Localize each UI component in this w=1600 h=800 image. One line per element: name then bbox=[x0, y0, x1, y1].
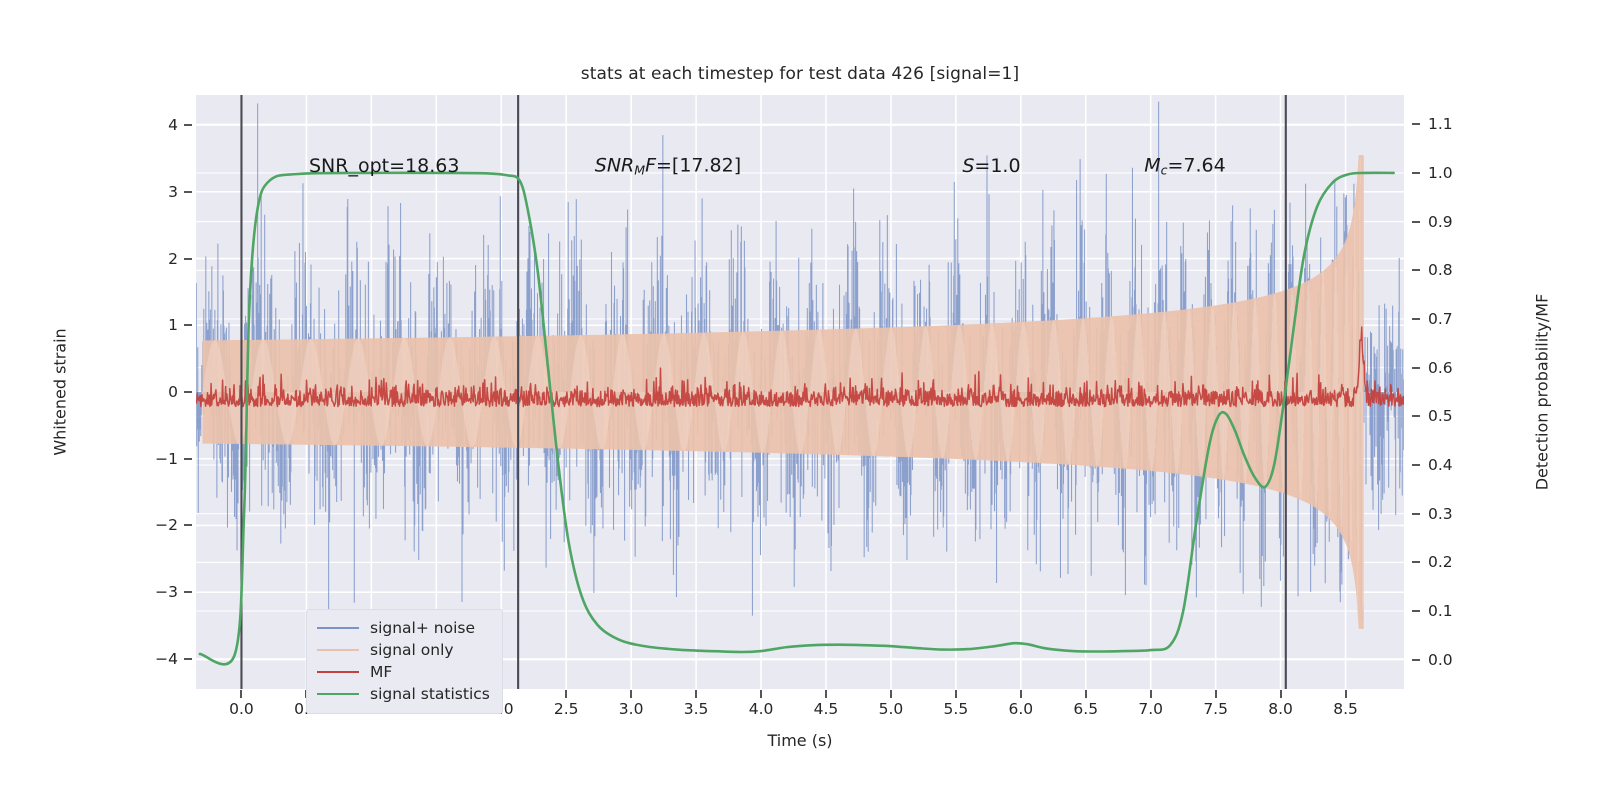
y-tick-right-0-9: 0.9 bbox=[1428, 213, 1474, 231]
legend-label: signal+ noise bbox=[370, 619, 475, 637]
annotation-snr-mf: SNRMF=[17.82] bbox=[595, 155, 741, 178]
tick-mark bbox=[565, 690, 567, 698]
tick-mark bbox=[695, 690, 697, 698]
y-tick-left-1: 1 bbox=[140, 316, 178, 334]
y-tick-right-0-7: 0.7 bbox=[1428, 310, 1474, 328]
x-tick-6-0: 6.0 bbox=[1008, 700, 1033, 718]
legend: signal+ noisesignal onlyMFsignal statist… bbox=[306, 609, 503, 714]
x-tick-2-5: 2.5 bbox=[554, 700, 579, 718]
tick-mark bbox=[184, 591, 192, 593]
tick-mark bbox=[1412, 367, 1420, 369]
y-tick-left-4: 4 bbox=[140, 116, 178, 134]
tick-mark bbox=[1215, 690, 1217, 698]
chart-title: stats at each timestep for test data 426… bbox=[0, 64, 1600, 84]
tick-mark bbox=[1412, 172, 1420, 174]
tick-mark bbox=[184, 324, 192, 326]
y-tick-right-0-6: 0.6 bbox=[1428, 359, 1474, 377]
tick-mark bbox=[184, 124, 192, 126]
x-tick-3-5: 3.5 bbox=[684, 700, 709, 718]
annotation-mc-value: Mc=7.64 bbox=[1144, 155, 1226, 178]
legend-swatch-icon bbox=[317, 649, 359, 651]
tick-mark bbox=[184, 391, 192, 393]
legend-item-mf[interactable]: MF bbox=[317, 661, 490, 683]
tick-mark bbox=[1412, 513, 1420, 515]
tick-mark bbox=[1412, 221, 1420, 223]
plot-canvas bbox=[196, 95, 1404, 689]
x-tick-7-0: 7.0 bbox=[1138, 700, 1163, 718]
tick-mark bbox=[1412, 269, 1420, 271]
legend-swatch-icon bbox=[317, 693, 359, 695]
x-tick-3-0: 3.0 bbox=[619, 700, 644, 718]
tick-mark bbox=[184, 191, 192, 193]
tick-mark bbox=[184, 524, 192, 526]
x-tick-5-5: 5.5 bbox=[944, 700, 969, 718]
y-tick-right-0-4: 0.4 bbox=[1428, 456, 1474, 474]
legend-item-signal-statistics[interactable]: signal statistics bbox=[317, 683, 490, 705]
x-tick-7-5: 7.5 bbox=[1203, 700, 1228, 718]
tick-mark bbox=[1412, 123, 1420, 125]
legend-label: signal only bbox=[370, 641, 454, 659]
x-tick-8-5: 8.5 bbox=[1333, 700, 1358, 718]
x-tick-6-5: 6.5 bbox=[1073, 700, 1098, 718]
tick-mark bbox=[1412, 415, 1420, 417]
tick-mark bbox=[1412, 464, 1420, 466]
legend-swatch-icon bbox=[317, 671, 359, 673]
y-tick-right-0-2: 0.2 bbox=[1428, 553, 1474, 571]
tick-mark bbox=[955, 690, 957, 698]
tick-mark bbox=[1150, 690, 1152, 698]
tick-mark bbox=[1085, 690, 1087, 698]
tick-mark bbox=[630, 690, 632, 698]
tick-mark bbox=[184, 258, 192, 260]
tick-mark bbox=[184, 658, 192, 660]
tick-mark bbox=[1345, 690, 1347, 698]
plot-panel bbox=[196, 95, 1404, 689]
y-tick-right-1-0: 1.0 bbox=[1428, 164, 1474, 182]
y-tick-left-neg4: −4 bbox=[140, 650, 178, 668]
legend-swatch-icon bbox=[317, 627, 359, 629]
y-tick-left-neg2: −2 bbox=[140, 516, 178, 534]
tick-mark bbox=[760, 690, 762, 698]
tick-mark bbox=[184, 458, 192, 460]
tick-mark bbox=[1412, 318, 1420, 320]
x-tick-4-0: 4.0 bbox=[749, 700, 774, 718]
y-tick-left-0: 0 bbox=[140, 383, 178, 401]
figure-root: stats at each timestep for test data 426… bbox=[0, 0, 1600, 800]
tick-mark bbox=[1412, 610, 1420, 612]
annotation-snr-opt: SNR_opt=18.63 bbox=[309, 155, 459, 177]
legend-item-signal-only[interactable]: signal only bbox=[317, 639, 490, 661]
x-tick-8-0: 8.0 bbox=[1268, 700, 1293, 718]
y-tick-right-0-8: 0.8 bbox=[1428, 261, 1474, 279]
legend-label: MF bbox=[370, 663, 392, 681]
y-axis-label-right: Detection probability/MF bbox=[1533, 294, 1552, 491]
y-tick-left-3: 3 bbox=[140, 183, 178, 201]
tick-mark bbox=[1412, 561, 1420, 563]
x-tick-4-5: 4.5 bbox=[814, 700, 839, 718]
y-tick-right-0-1: 0.1 bbox=[1428, 602, 1474, 620]
x-tick-5-0: 5.0 bbox=[879, 700, 904, 718]
y-tick-left-2: 2 bbox=[140, 250, 178, 268]
tick-mark bbox=[1280, 690, 1282, 698]
x-tick-0-0: 0.0 bbox=[229, 700, 254, 718]
tick-mark bbox=[825, 690, 827, 698]
y-tick-left-neg1: −1 bbox=[140, 450, 178, 468]
tick-mark bbox=[1412, 659, 1420, 661]
y-axis-label-left: Whitened strain bbox=[51, 328, 70, 455]
annotation-s-value: S=1.0 bbox=[962, 155, 1020, 177]
y-tick-right-1-1: 1.1 bbox=[1428, 115, 1474, 133]
y-tick-right-0-3: 0.3 bbox=[1428, 505, 1474, 523]
tick-mark bbox=[240, 690, 242, 698]
y-tick-right-0-0: 0.0 bbox=[1428, 651, 1474, 669]
legend-item-signal-noise[interactable]: signal+ noise bbox=[317, 617, 490, 639]
tick-mark bbox=[1020, 690, 1022, 698]
y-tick-left-neg3: −3 bbox=[140, 583, 178, 601]
tick-mark bbox=[890, 690, 892, 698]
legend-label: signal statistics bbox=[370, 685, 490, 703]
y-tick-right-0-5: 0.5 bbox=[1428, 407, 1474, 425]
x-axis-label: Time (s) bbox=[767, 731, 832, 750]
